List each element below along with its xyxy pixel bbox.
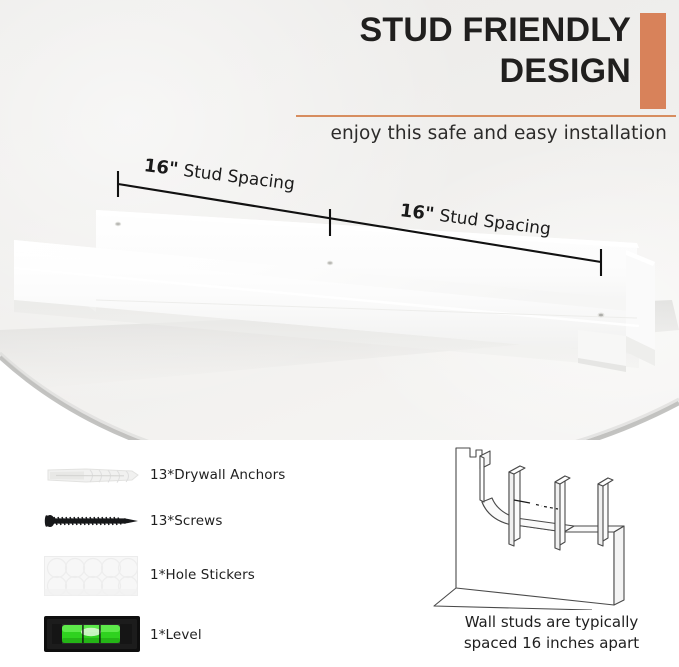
list-item-screws: 13*Screws: [0, 498, 420, 544]
infographic-canvas: 16" Stud Spacing 16" Stud Spacing STUD F…: [0, 0, 679, 667]
part-label-hole-stickers: 1*Hole Stickers: [150, 567, 255, 583]
caption-line-1: Wall studs are typically: [424, 612, 679, 633]
stud-spacing-value-right: 16": [399, 200, 436, 225]
page-title: STUD FRIENDLY DESIGN: [211, 10, 631, 93]
stud-spacing-value-left: 16": [143, 155, 180, 180]
hole-stickers-icon: [0, 552, 150, 598]
subtitle: enjoy this safe and easy installation: [197, 123, 667, 144]
title-line-2: DESIGN: [211, 51, 631, 92]
part-label-level: 1*Level: [150, 627, 202, 643]
wall-studs-diagram: Wall studs are typically spaced 16 inche…: [424, 440, 679, 667]
parts-list: 13*Drywall Anchors: [0, 440, 420, 667]
wall-studs-svg: [424, 440, 679, 610]
bubble-level-svg: [44, 616, 140, 652]
bubble-level-icon: [0, 612, 150, 658]
hole-stickers-svg: [44, 556, 138, 596]
list-item-hole-stickers: 1*Hole Stickers: [0, 552, 420, 598]
accessories-section: 13*Drywall Anchors: [0, 440, 679, 667]
drywall-anchor-svg: [46, 466, 142, 486]
title-line-1: STUD FRIENDLY: [211, 10, 631, 51]
wall-studs-caption: Wall studs are typically spaced 16 inche…: [424, 612, 679, 655]
list-item-drywall-anchors: 13*Drywall Anchors: [0, 452, 420, 498]
screw-svg: [44, 512, 144, 530]
part-label-screws: 13*Screws: [150, 513, 222, 529]
part-label-drywall-anchors: 13*Drywall Anchors: [150, 467, 285, 483]
drywall-anchor-icon: [0, 452, 150, 498]
title-divider-rule: [296, 115, 676, 117]
accent-bar: [640, 13, 666, 109]
caption-line-2: spaced 16 inches apart: [424, 633, 679, 654]
screw-icon: [0, 498, 150, 544]
list-item-level: 1*Level: [0, 612, 420, 658]
